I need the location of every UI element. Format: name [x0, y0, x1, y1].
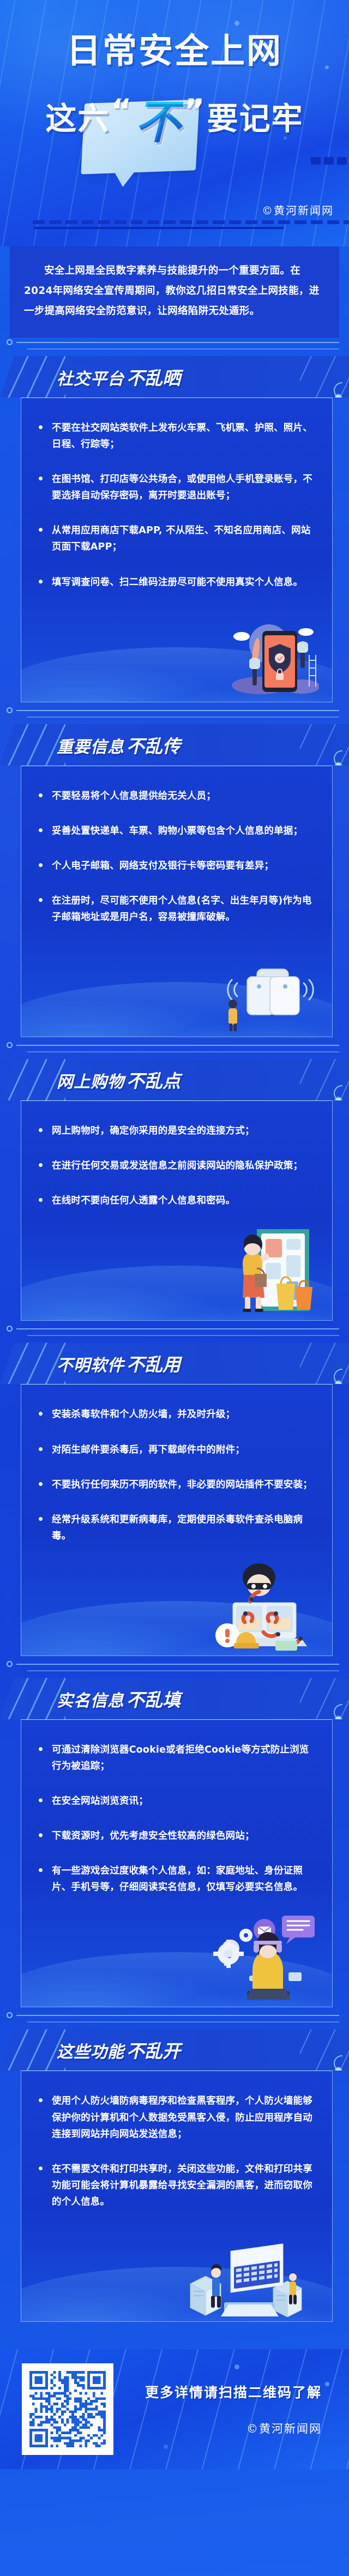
laptop-city-servers-icon	[177, 2227, 319, 2317]
bullet-item: 不要执行任何来历不明的软件，非必要的网站插件不要安装；	[35, 1477, 318, 1493]
slash-decoration-left	[0, 724, 65, 766]
poster-header: 日常安全上网 这六 “ 不 ” 要记牢 ©黄河新闻网	[0, 0, 349, 246]
slash-decoration-left	[0, 2029, 65, 2071]
woman-laptop-gears-mail-illustration	[199, 1907, 319, 2005]
bullet-item: 使用个人防火墙防病毒程序和检查黑客程序，个人防火墙能够保护你的计算机和个人数据免…	[35, 2093, 318, 2142]
bullet-item: 在安全网站浏览资讯；	[35, 1793, 318, 1809]
intro-panel: 安全上网是全民数字素养与技能提升的一个重要方面。在2024年网络安全宣传周期间，…	[10, 246, 339, 338]
node-dot-decoration	[335, 395, 341, 398]
bullet-item: 在不需要文件和打印共享时，关闭这些功能，文件和打印共享功能可能会将计算机暴露给寻…	[35, 2161, 318, 2210]
slash-decoration-left	[0, 1059, 65, 1100]
connector-node-icon	[7, 1661, 13, 1667]
section-title-prefix: 实名信息	[57, 1692, 124, 1711]
bullet-item: 经常升级系统和更新病毒库，定期使用杀毒软件查杀电脑病毒。	[35, 1512, 318, 1544]
section-title-prefix: 网上购物	[57, 1073, 124, 1092]
bullet-item: 在图书馆、打印店等公共场合，或使用他人手机登录账号，不要选择自动保存密码，离开时…	[35, 471, 318, 504]
section-title: 重要信息不乱传	[57, 732, 180, 758]
section-header-bar: 不明软件不乱用	[0, 1343, 349, 1384]
section-header-bar: 实名信息不乱填	[0, 1678, 349, 1719]
bullet-item: 在注册时，尽可能不使用个人信息(名字、出生年月等)作为电子邮箱地址或是用户名，容…	[35, 893, 318, 925]
sections-container: 社交平台不乱晒 不要在社交网站类软件上发布火车票、飞机票、护照、照片、日程、行踪…	[0, 356, 349, 2325]
slash-decoration-left	[0, 1343, 65, 1384]
poster-title-line1: 日常安全上网	[0, 33, 349, 70]
section-panel: 使用个人防火墙防病毒程序和检查黑客程序，个人防火墙能够保护你的计算机和个人数据免…	[21, 2071, 333, 2322]
header-block-decoration	[311, 157, 347, 165]
poster-footer: 更多详情请扫描二维码了解 ©黄河新闻网	[0, 2349, 349, 2469]
bullet-item: 在线时不要向任何人透露个人信息和密码。	[35, 1193, 318, 1209]
section-title-prefix: 社交平台	[57, 370, 124, 389]
section-bullet-list: 不要在社交网站类软件上发布火车票、飞机票、护照、照片、日程、行踪等；在图书馆、打…	[35, 420, 318, 591]
online-shopping-woman-illustration	[204, 1220, 319, 1318]
section-illustration	[21, 944, 332, 1037]
section-panel: 不要轻易将个人信息提供给无关人员；妥善处置快递单、车票、购物小票等包含个人信息的…	[21, 766, 333, 1037]
section-title-tail: 不乱点	[127, 1070, 180, 1092]
content-section-3: 网上购物不乱点 网上购物时，确定你采用的是安全的连接方式；在进行任何交易或发送信…	[0, 1059, 349, 1324]
title-line2-prefix: 这六	[45, 102, 110, 136]
section-header-bar: 网上购物不乱点	[0, 1059, 349, 1100]
connector-node-icon	[7, 707, 13, 713]
node-dot-decoration	[335, 1098, 341, 1100]
hacker-laptop-virus-icon	[194, 1561, 319, 1651]
phone-shield-globe-icon	[210, 616, 319, 697]
bullet-item: 对陌生邮件要杀毒后，再下载邮件中的附件；	[35, 1442, 318, 1458]
bullet-item: 不要轻易将个人信息提供给无关人员；	[35, 788, 318, 804]
section-bullet-list: 使用个人防火墙防病毒程序和检查黑客程序，个人防火墙能够保护你的计算机和个人数据免…	[35, 2093, 318, 2210]
section-title-tail: 不乱晒	[127, 368, 180, 389]
qr-code[interactable]	[22, 2363, 113, 2455]
bullet-item: 下载资源时，优先考虑安全性较高的绿色网站；	[35, 1828, 318, 1844]
poster-title-line2: 这六 “ 不 ” 要记牢	[0, 94, 349, 144]
quote-close: ”	[184, 94, 206, 129]
intro-paragraph: 安全上网是全民数字素养与技能提升的一个重要方面。在2024年网络安全宣传周期间，…	[24, 261, 325, 321]
section-title-prefix: 重要信息	[57, 738, 124, 757]
content-section-5: 实名信息不乱填 可通过清除浏览器Cookie或者拒绝Cookie等方式防止浏览行…	[0, 1678, 349, 2011]
section-panel: 不要在社交网站类软件上发布火车票、飞机票、护照、照片、日程、行踪等；在图书馆、打…	[21, 398, 333, 702]
connector-node-icon	[7, 2012, 13, 2018]
section-title-prefix: 这些功能	[57, 2043, 124, 2062]
node-dot-decoration	[335, 1717, 341, 1719]
footer-text-group: 更多详情请扫描二维码了解 ©黄河新闻网	[113, 2382, 327, 2436]
connector-node-icon	[7, 1042, 13, 1048]
bullet-item: 有一些游戏会过度收集个人信息，如：家庭地址、身份证照片、手机号等，仔细阅读实名信…	[35, 1863, 318, 1895]
section-bullet-list: 可通过清除浏览器Cookie或者拒绝Cookie等方式防止浏览行为被追踪；在安全…	[35, 1742, 318, 1896]
section-illustration	[21, 1914, 332, 2007]
hacker-laptop-virus-illustration	[194, 1561, 319, 1653]
footer-credit: ©黄河新闻网	[113, 2420, 322, 2436]
section-header-bar: 这些功能不乱开	[0, 2029, 349, 2071]
section-bullet-list: 网上购物时，确定你采用的是安全的连接方式；在进行任何交易或发送信息之前阅读网站的…	[35, 1123, 318, 1209]
content-section-2: 重要信息不乱传 不要轻易将个人信息提供给无关人员；妥善处置快递单、车票、购物小票…	[0, 724, 349, 1040]
section-title: 社交平台不乱晒	[57, 364, 180, 390]
dot-decoration	[234, 2364, 239, 2369]
phone-shield-globe-illustration	[210, 616, 319, 700]
section-header-bar: 重要信息不乱传	[0, 724, 349, 766]
bullet-item: 安装杀毒软件和个人防火墙，并及时升级；	[35, 1406, 318, 1423]
bullet-item: 可通过清除浏览器Cookie或者拒绝Cookie等方式防止浏览行为被追踪；	[35, 1742, 318, 1774]
section-panel: 可通过清除浏览器Cookie或者拒绝Cookie等方式防止浏览行为被追踪；在安全…	[21, 1719, 333, 2008]
section-connector-lines	[3, 1664, 339, 1676]
header-credit: ©黄河新闻网	[262, 202, 334, 218]
header-solid-rule	[34, 227, 284, 229]
connector-node-icon	[7, 1326, 13, 1332]
section-title-tail: 不乱填	[127, 1689, 180, 1711]
section-illustration	[21, 609, 332, 702]
dot-decoration	[164, 2445, 168, 2449]
slash-decoration-left	[0, 1678, 65, 1719]
section-bullet-list: 不要轻易将个人信息提供给无关人员；妥善处置快递单、车票、购物小票等包含个人信息的…	[35, 788, 318, 925]
poster-title-group: 日常安全上网 这六 “ 不 ” 要记牢	[0, 33, 349, 144]
woman-laptop-gears-mail-icon	[199, 1907, 319, 2002]
section-panel: 网上购物时，确定你采用的是安全的连接方式；在进行任何交易或发送信息之前阅读网站的…	[21, 1100, 333, 1321]
section-illustration	[21, 2229, 332, 2321]
node-dot-decoration	[335, 1381, 341, 1384]
bullet-item: 在进行任何交易或发送信息之前阅读网站的隐私保护政策；	[35, 1158, 318, 1174]
section-panel: 安装杀毒软件和个人防火墙，并及时升级；对陌生邮件要杀毒后，再下载邮件中的附件；不…	[21, 1384, 333, 1656]
online-shopping-woman-icon	[204, 1220, 319, 1316]
bullet-item: 填写调查问卷、扫二维码注册尽可能不使用真实个人信息。	[35, 574, 318, 591]
bullet-item: 个人电子邮箱、网络支付及银行卡等密码要有差异；	[35, 858, 318, 874]
content-section-4: 不明软件不乱用 安装杀毒软件和个人防火墙，并及时升级；对陌生邮件要杀毒后，再下载…	[0, 1343, 349, 1659]
section-connector-lines	[3, 342, 339, 354]
infographic-poster: 日常安全上网 这六 “ 不 ” 要记牢 ©黄河新闻网 安全上网是全民数字素养与技…	[0, 0, 349, 2576]
section-connector-lines	[3, 2015, 339, 2027]
laptop-city-servers-illustration	[177, 2227, 319, 2319]
title-line2-suffix: 要记牢	[207, 102, 304, 136]
content-section-6: 这些功能不乱开 使用个人防火墙防病毒程序和检查黑客程序，个人防火墙能够保护你的计…	[0, 2029, 349, 2325]
section-title: 网上购物不乱点	[57, 1067, 180, 1093]
bullet-item: 网上购物时，确定你采用的是安全的连接方式；	[35, 1123, 318, 1139]
section-title-tail: 不乱用	[127, 1354, 180, 1375]
header-dashed-rule	[33, 220, 349, 224]
connector-node-icon	[7, 339, 13, 345]
section-title: 不明软件不乱用	[57, 1350, 180, 1376]
section-connector-lines	[3, 1045, 339, 1057]
bullet-item: 从常用应用商店下载APP, 不从陌生、不知名应用商店、网站页面下载APP；	[35, 522, 318, 555]
slash-decoration-left	[0, 356, 65, 398]
section-title-tail: 不乱传	[127, 736, 180, 757]
section-illustration	[21, 1227, 332, 1320]
section-header-bar: 社交平台不乱晒	[0, 356, 349, 398]
section-title: 实名信息不乱填	[57, 1686, 180, 1712]
quote-open: “	[111, 94, 133, 129]
bullet-item: 妥善处置快递单、车票、购物小票等包含个人信息的单据；	[35, 823, 318, 839]
data-transfer-wifi-illustration	[204, 950, 319, 1034]
section-connector-lines	[3, 710, 339, 722]
title-highlight-bu: 不	[134, 97, 183, 147]
dot-decoration	[234, 21, 239, 26]
section-title-prefix: 不明软件	[57, 1356, 124, 1375]
section-illustration	[21, 1563, 332, 1656]
data-transfer-wifi-icon	[204, 950, 319, 1032]
footer-cta-text: 更多详情请扫描二维码了解	[113, 2382, 322, 2402]
section-title-tail: 不乱开	[127, 2041, 180, 2062]
content-section-1: 社交平台不乱晒 不要在社交网站类软件上发布火车票、飞机票、护照、照片、日程、行踪…	[0, 356, 349, 706]
section-connector-lines	[3, 1328, 339, 1340]
node-dot-decoration	[335, 2068, 341, 2071]
section-title: 这些功能不乱开	[57, 2037, 180, 2063]
section-bullet-list: 安装杀毒软件和个人防火墙，并及时升级；对陌生邮件要杀毒后，再下载邮件中的附件；不…	[35, 1406, 318, 1544]
bullet-item: 不要在社交网站类软件上发布火车票、飞机票、护照、照片、日程、行踪等；	[35, 420, 318, 453]
